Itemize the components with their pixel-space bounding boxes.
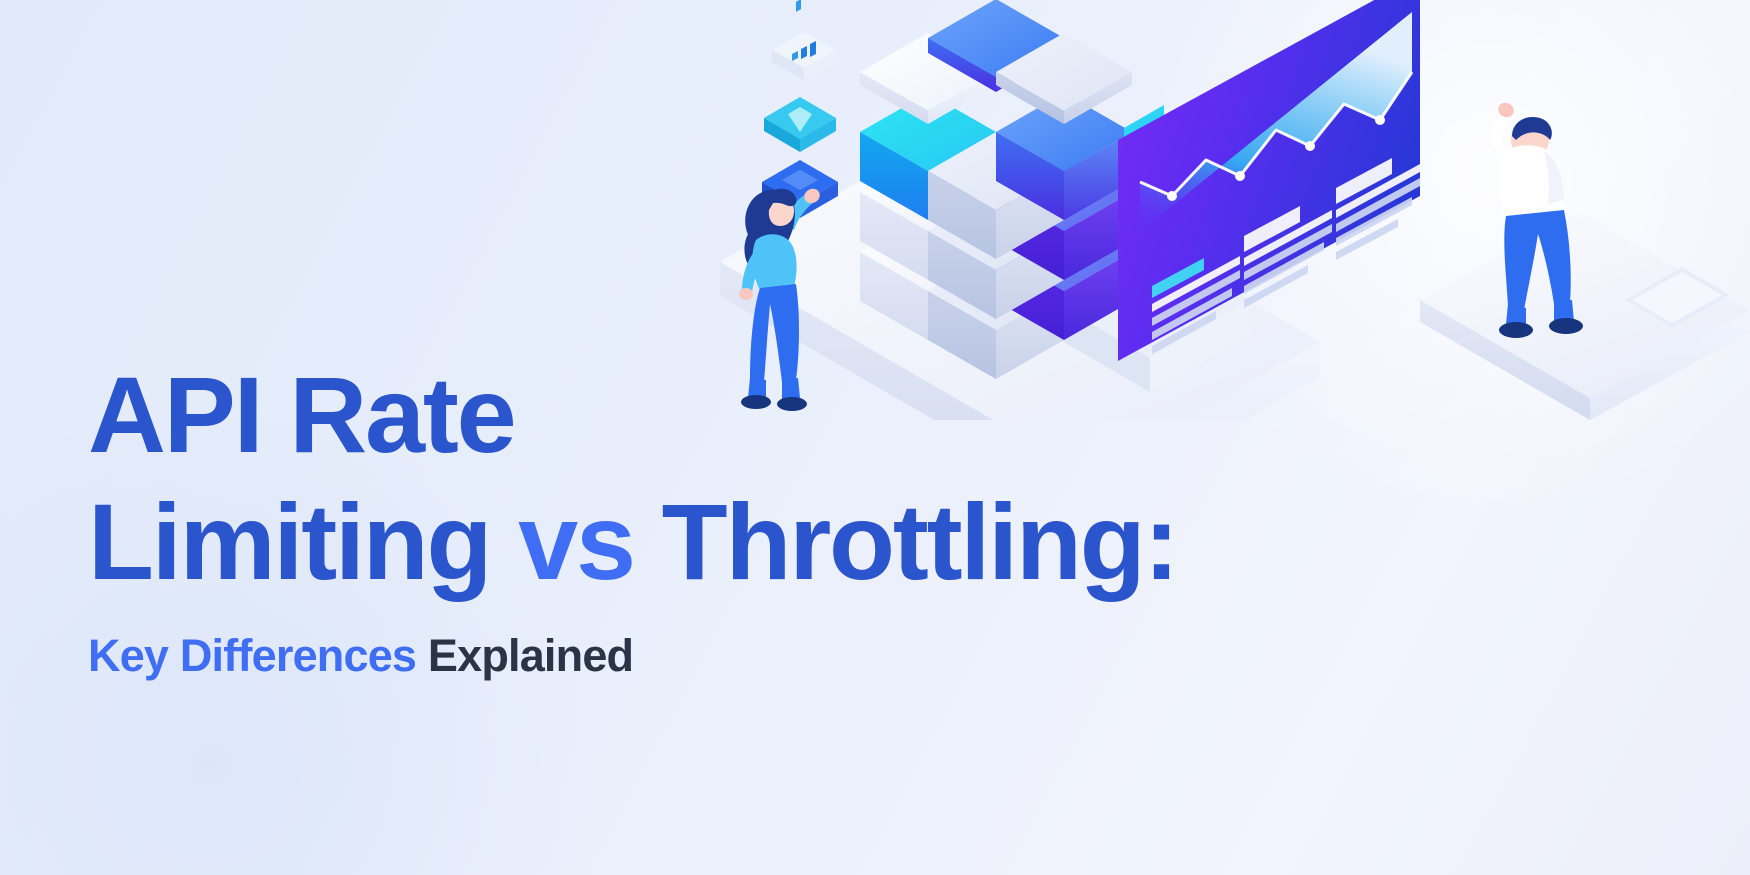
bar-chart-icon (772, 0, 836, 80)
subtitle-rest: Explained (416, 630, 633, 681)
headline-vs: vs (518, 481, 634, 602)
floating-icon-cards (762, 0, 838, 218)
headline-throttling: Throttling: (634, 481, 1177, 602)
analytics-dashboard-panel (1118, 0, 1420, 361)
banner-root: API Rate Limiting vs Throttling: Key Dif… (0, 0, 1750, 875)
headline-limiting: Limiting (88, 481, 518, 602)
page-subtitle: Key Differences Explained (88, 631, 1498, 681)
headline-block: API Rate Limiting vs Throttling: Key Dif… (88, 352, 1498, 680)
page-title-line-1: API Rate (88, 352, 1498, 477)
shield-icon (764, 97, 836, 152)
page-title-line-2: Limiting vs Throttling: (88, 479, 1498, 604)
subtitle-highlight: Key Differences (88, 630, 416, 681)
